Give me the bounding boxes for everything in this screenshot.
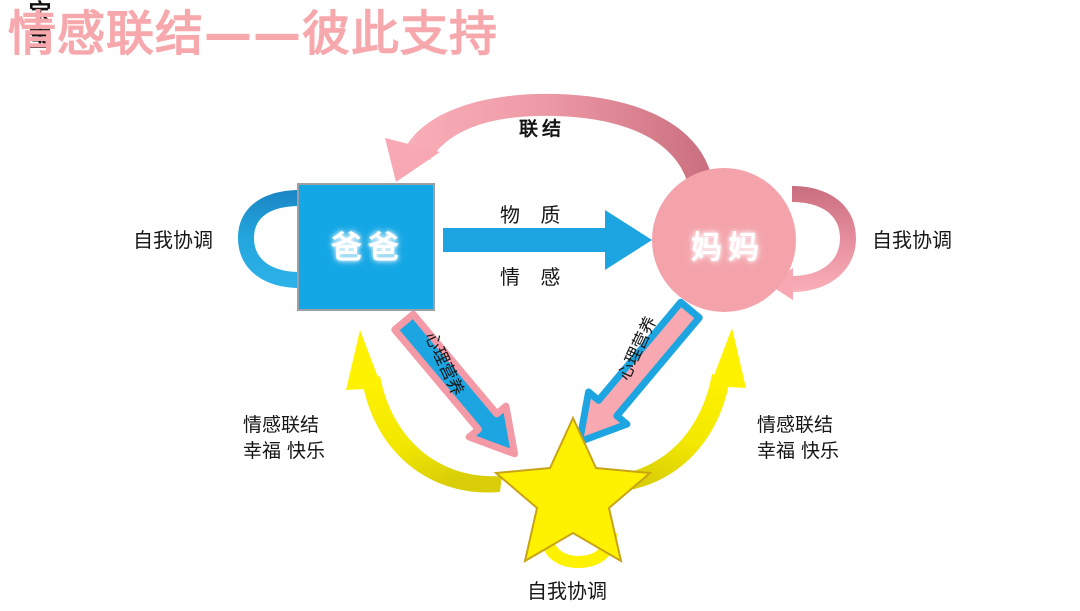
emotional-bond-left-line1: 情感联结 xyxy=(243,413,325,439)
edge-label-material: 物 质 xyxy=(500,199,567,228)
emotional-bond-left-line2: 幸福 快乐 xyxy=(243,439,325,465)
emotional-bond-right-line1: 情感联结 xyxy=(757,413,839,439)
edge-label-self-coordination-baby: 自我协调 xyxy=(527,575,607,604)
relationship-diagram xyxy=(0,0,1080,611)
edge-label-connection: 联结 xyxy=(519,114,565,141)
edge-label-emotional-bond-left: 情感联结 幸福 快乐 xyxy=(243,413,325,464)
emotional-bond-right-line2: 幸福 快乐 xyxy=(757,439,839,465)
node-mom[interactable] xyxy=(652,168,796,312)
node-baby[interactable] xyxy=(496,418,650,561)
node-dad[interactable] xyxy=(298,184,434,310)
edge-label-emotion: 情 感 xyxy=(500,261,567,290)
edge-label-self-coordination-mom: 自我协调 xyxy=(872,224,952,253)
edge-label-self-coordination-dad: 自我协调 xyxy=(133,224,213,253)
edge-label-emotional-bond-right: 情感联结 幸福 快乐 xyxy=(757,413,839,464)
slide-canvas: 情感联结——彼此支持 xyxy=(0,0,1080,611)
